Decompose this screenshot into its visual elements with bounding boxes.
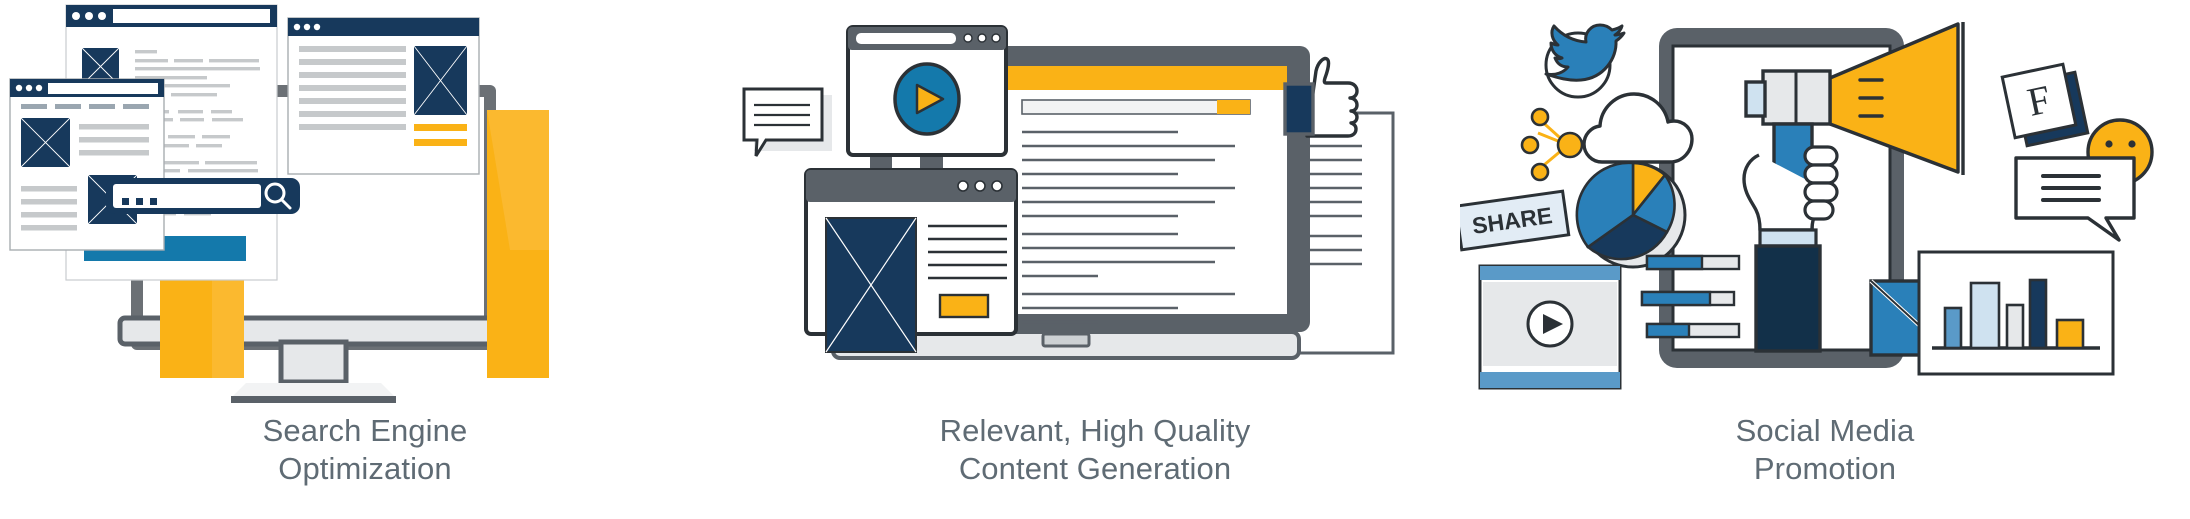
social-illustration: SHARE <box>1460 0 2190 410</box>
panel-social: SHARE <box>1460 0 2190 519</box>
image-placeholder <box>21 118 70 167</box>
facebook-card: F <box>2002 64 2088 146</box>
search-bar <box>106 178 300 214</box>
caption-line-1: Search Engine <box>0 412 730 450</box>
amber-chip <box>1217 100 1250 114</box>
panel-caption-seo: Search Engine Optimization <box>0 412 730 488</box>
chat-bubble-icon <box>2016 158 2134 240</box>
play-icon <box>895 64 959 134</box>
image-placeholder <box>414 46 467 115</box>
play-icon <box>1528 302 1572 346</box>
panel-content: Relevant, High Quality Content Generatio… <box>730 0 1460 519</box>
progress-field <box>1022 100 1250 114</box>
video-player-window <box>848 27 1006 155</box>
search-input-dots <box>122 198 157 205</box>
browser-window-small-left <box>10 79 164 250</box>
network-nodes-icon <box>1522 109 1582 180</box>
pie-chart-icon <box>1577 163 1685 267</box>
panel-caption-content: Relevant, High Quality Content Generatio… <box>730 412 1460 488</box>
share-banner: SHARE <box>1460 191 1569 250</box>
seo-illustration <box>0 0 730 410</box>
caption-line-2: Promotion <box>1460 450 2190 488</box>
caption-line-1: Relevant, High Quality <box>730 412 1460 450</box>
caption-line-2: Optimization <box>0 450 730 488</box>
twitter-bird-icon <box>1546 25 1624 97</box>
slider-rows <box>1642 256 1739 337</box>
browser-window-right <box>288 18 479 174</box>
caption-line-1: Social Media <box>1460 412 2190 450</box>
article-window <box>806 170 1016 352</box>
panel-seo: Search Engine Optimization <box>0 0 730 519</box>
caption-line-2: Content Generation <box>730 450 1460 488</box>
content-illustration <box>730 0 1460 410</box>
illustration-board: Search Engine Optimization <box>0 0 2190 519</box>
panel-caption-social: Social Media Promotion <box>1460 412 2190 488</box>
comment-bubble <box>744 89 832 156</box>
video-card <box>1480 266 1620 388</box>
bar-chart-icon <box>1919 252 2113 374</box>
image-placeholder <box>826 218 916 352</box>
